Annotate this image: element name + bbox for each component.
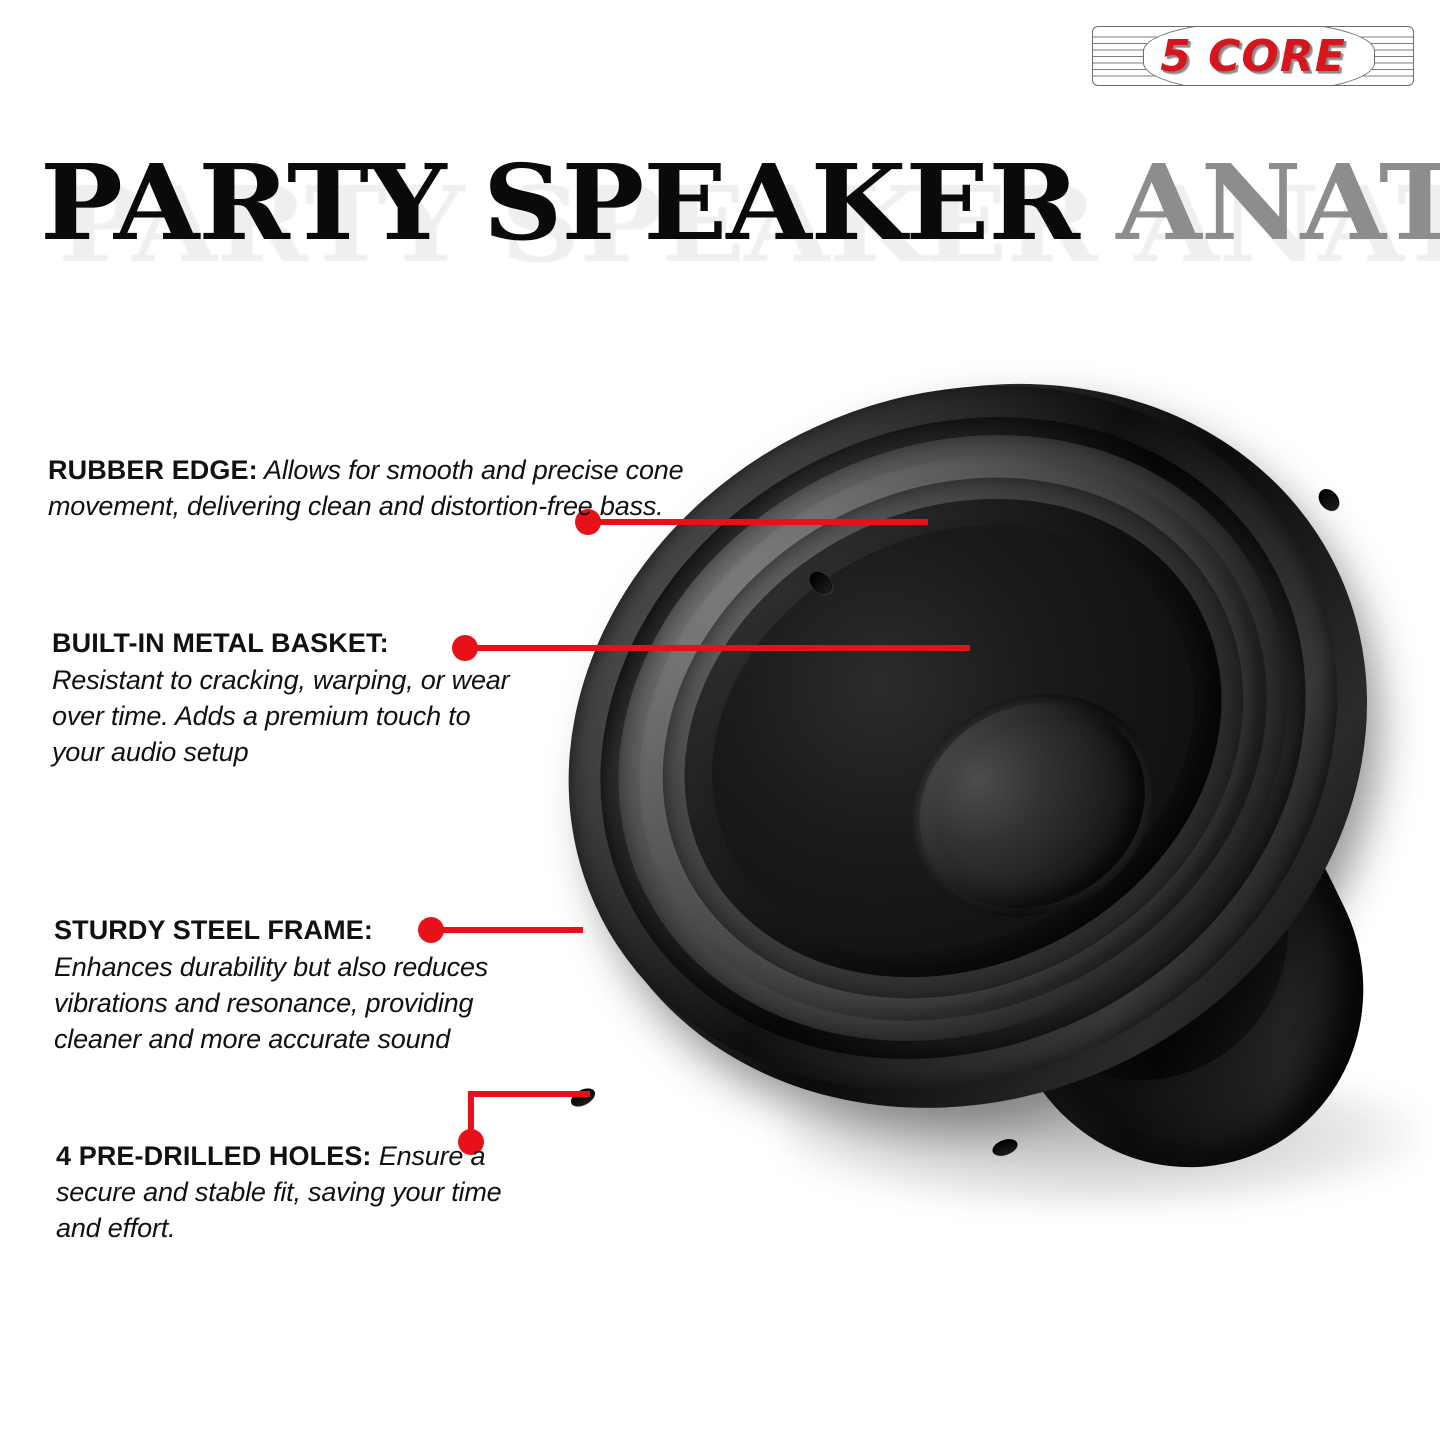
leader-segment-vertical — [468, 1091, 474, 1145]
callout-metal-basket-text: BUILT-IN METAL BASKET:Resistant to crack… — [52, 625, 522, 770]
leader-line-metal-basket — [452, 635, 977, 663]
callout-rubber-edge-text: RUBBER EDGE: Allows for smooth and preci… — [48, 452, 688, 524]
callout-rubber-edge: RUBBER EDGE: Allows for smooth and preci… — [48, 452, 688, 524]
callout-metal-basket-term: BUILT-IN METAL BASKET: — [52, 625, 522, 661]
callout-drilled-holes: 4 PRE-DRILLED HOLES: Ensure a secure and… — [56, 1138, 526, 1246]
leader-segment — [465, 645, 970, 651]
callout-drilled-holes-text: 4 PRE-DRILLED HOLES: Ensure a secure and… — [56, 1138, 526, 1246]
page-title: PARTY SPEAKER ANATOMY PARTY SPEAKER ANAT… — [40, 148, 1410, 268]
callout-steel-frame-body: Enhances durability but also reduces vib… — [54, 952, 488, 1054]
callout-steel-frame-text: STURDY STEEL FRAME:Enhances durability b… — [54, 912, 544, 1057]
page-title-main: PARTY SPEAKER — [40, 141, 1116, 264]
callout-drilled-holes-term: 4 PRE-DRILLED HOLES: — [56, 1141, 372, 1171]
callout-rubber-edge-term: RUBBER EDGE: — [48, 455, 258, 485]
callout-metal-basket-body: Resistant to cracking, warping, or wear … — [52, 665, 509, 767]
leader-segment-horizontal — [468, 1091, 590, 1097]
speaker-product-image — [530, 300, 1440, 1250]
page-title-front: PARTY SPEAKER ANATOMY — [40, 148, 1440, 258]
mounting-hole-icon — [1314, 485, 1343, 515]
page-title-accent: ANATOMY — [1116, 141, 1440, 264]
callout-steel-frame-term: STURDY STEEL FRAME: — [54, 912, 544, 948]
brand-logo: 5 CORE — [1092, 26, 1414, 86]
callout-metal-basket: BUILT-IN METAL BASKET:Resistant to crack… — [52, 625, 522, 770]
callout-steel-frame: STURDY STEEL FRAME:Enhances durability b… — [54, 912, 544, 1057]
brand-logo-text: 5 CORE — [1092, 26, 1414, 86]
